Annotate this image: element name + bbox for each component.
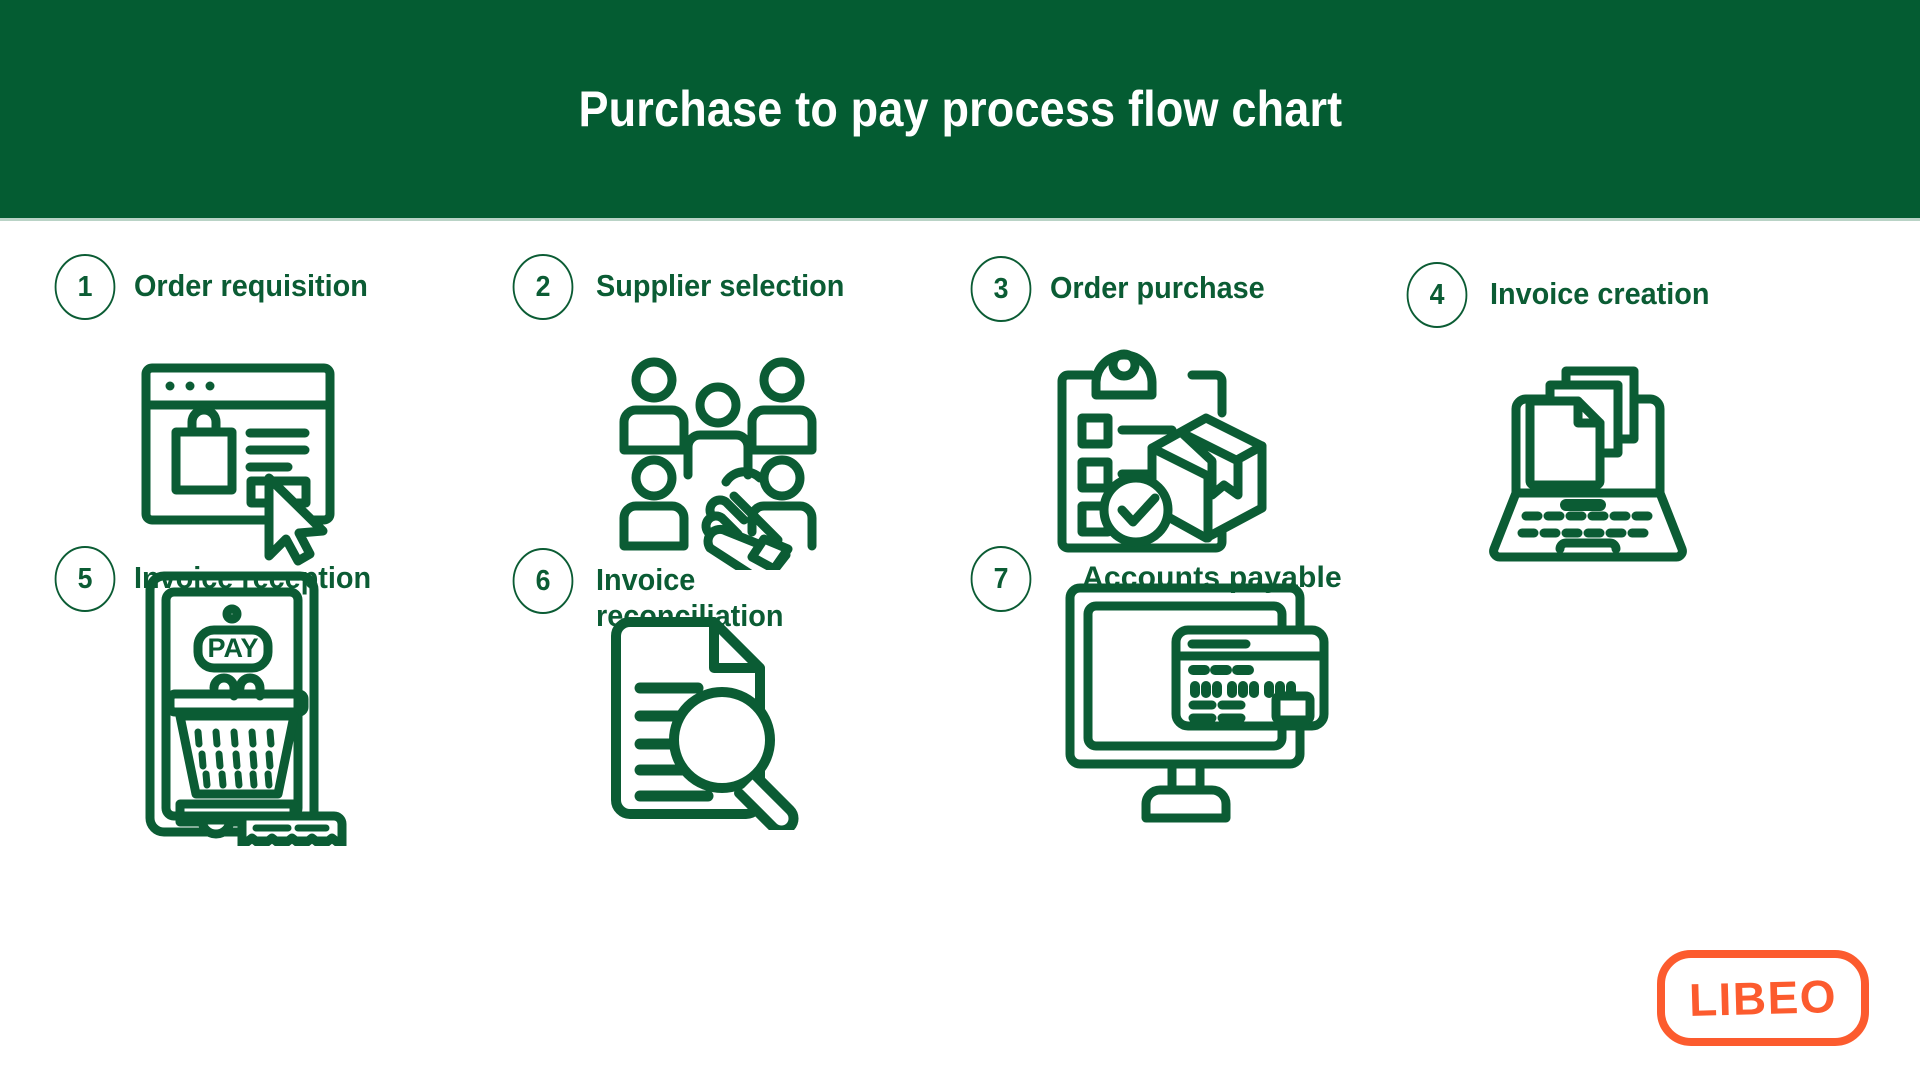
step-5-number: 5 <box>55 546 116 612</box>
step-3-number: 3 <box>971 256 1032 322</box>
step-3: 3 Order purchase <box>968 256 1281 322</box>
step-1-number: 1 <box>55 254 116 320</box>
step-7-number: 7 <box>971 546 1032 612</box>
header-banner: Purchase to pay process flow chart <box>0 0 1920 218</box>
step-2-number: 2 <box>513 254 574 320</box>
step-6-number: 6 <box>513 548 574 614</box>
step-4-head: 4 Invoice creation <box>1404 262 1726 328</box>
laptop-documents-icon <box>1478 353 1698 573</box>
infographic-page: Purchase to pay process flow chart 1 Ord… <box>0 0 1920 1080</box>
page-title: Purchase to pay process flow chart <box>578 80 1342 138</box>
libeo-logo: LIBEO <box>1657 950 1869 1046</box>
step-1-head: 1 Order requisition <box>52 254 385 320</box>
steps-container: 1 Order requisition 2 <box>0 218 1920 1080</box>
document-magnifier-icon <box>596 610 816 830</box>
step-3-head: 3 Order purchase <box>968 256 1281 322</box>
monitor-credit-card-icon <box>1060 578 1330 828</box>
pay-button-text: PAY <box>207 633 258 663</box>
step-1: 1 Order requisition <box>52 254 385 320</box>
clipboard-checklist-box-icon <box>1040 340 1270 570</box>
step-2-label: Supplier selection <box>596 254 844 304</box>
phone-pay-basket-receipt-icon: PAY <box>140 566 360 846</box>
browser-shopping-cursor-icon <box>138 350 358 570</box>
step-2: 2 Supplier selection <box>510 254 863 320</box>
step-4-number: 4 <box>1407 262 1468 328</box>
step-2-head: 2 Supplier selection <box>510 254 863 320</box>
libeo-logo-text: LIBEO <box>1656 947 1871 1049</box>
step-4-label: Invoice creation <box>1490 262 1710 312</box>
people-selection-hand-icon <box>608 350 828 570</box>
step-4: 4 Invoice creation <box>1404 262 1726 328</box>
step-3-label: Order purchase <box>1050 256 1265 306</box>
step-1-label: Order requisition <box>134 254 368 304</box>
